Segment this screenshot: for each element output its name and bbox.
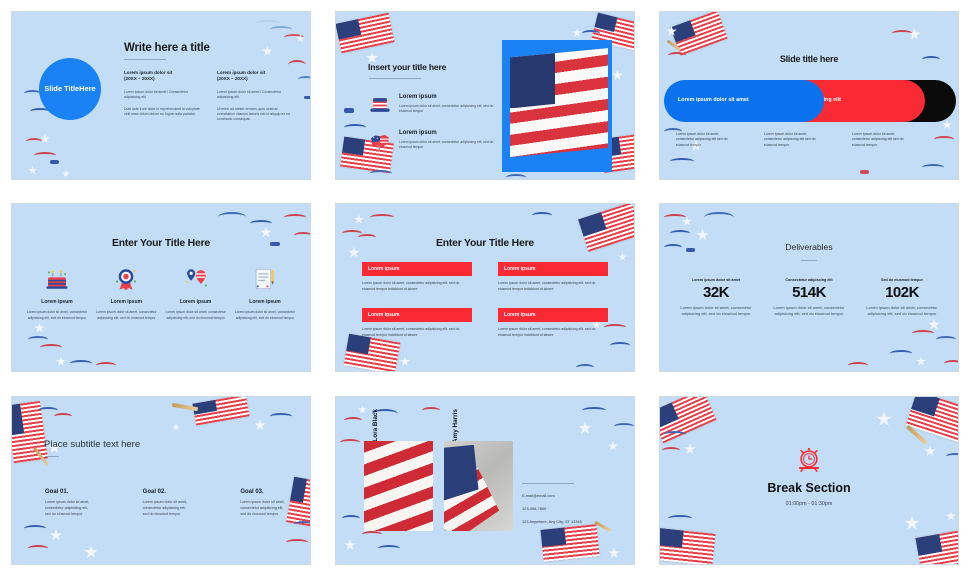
- feature-row-2: Lorem ipsum Lorem ipsum dolor sit amet, …: [369, 130, 497, 152]
- red-label-block-3[interactable]: Lorem ipsum Lorem ipsum dolor sit amet, …: [362, 308, 472, 338]
- contact-info: E-mail@email.com 123-456-7890 123 Anywhe…: [522, 493, 582, 532]
- goal-2: Goal 02. Lorem ipsum dolor sit amet, con…: [143, 489, 193, 517]
- red-label-block-4[interactable]: Lorem ipsum Lorem ipsum dolor sit amet, …: [498, 308, 608, 338]
- person-photo-2: [444, 441, 513, 531]
- break-heading: Break Section: [660, 481, 958, 495]
- stat-1: Lorem ipsum dolor sit amet 32K Lorem ips…: [672, 278, 760, 317]
- circle-label-line1: Slide Title: [44, 84, 79, 93]
- stat-label: Sed do eiusmod tempor: [858, 278, 946, 282]
- stat-para: Lorem ipsum dolor sit amet, consectetur …: [858, 305, 946, 317]
- red-label-grid: Lorem ipsum Lorem ipsum dolor sit amet, …: [362, 262, 608, 338]
- icon-item-para: Lorem ipsum dolor sit amet, consectetur …: [95, 310, 157, 321]
- column-heading-line1: Lorem ipsum dolor sit: [124, 70, 172, 75]
- circle-label-line2: Here: [79, 84, 95, 93]
- cake-icon: [44, 266, 70, 292]
- pill-descriptions: Lorem ipsum dolor sit amet, consectetur …: [676, 132, 910, 148]
- feature-text-1: Lorem ipsum Lorem ipsum dolor sit amet, …: [399, 94, 497, 114]
- column-1: Lorem ipsum dolor sit (20XX – 20XX) Lore…: [124, 70, 203, 122]
- red-label: Lorem ipsum: [362, 308, 472, 322]
- stat-3: Sed do eiusmod tempor 102K Lorem ipsum d…: [858, 278, 946, 317]
- icon-item-2[interactable]: Lorem ipsum Lorem ipsum dolor sit amet, …: [95, 266, 157, 321]
- slide-cell-1: Slide Title Here Write here a title Lore…: [0, 0, 322, 191]
- pill-bar-1-label: Lorem ipsum dolor sit amet: [678, 97, 749, 105]
- stat-label: Consectetur adipiscing elit: [765, 278, 853, 282]
- goal-title: Goal 01.: [45, 489, 95, 495]
- notebook-pencil-icon: [252, 266, 278, 292]
- slide-heading: Enter Your Title Here: [336, 238, 634, 249]
- icon-item-para: Lorem ipsum dolor sit amet, consectetur …: [165, 310, 227, 321]
- red-label: Lorem ipsum: [362, 262, 472, 276]
- red-label-block-1[interactable]: Lorem ipsum Lorem ipsum dolor sit amet, …: [362, 262, 472, 292]
- feature-title: Lorem ipsum: [399, 130, 497, 136]
- slide-title-circle[interactable]: Slide Title Here: [39, 58, 101, 120]
- slide-cell-8: Lora Black Amy Harris E-mail@email.com 1…: [324, 385, 646, 576]
- red-label: Lorem ipsum: [498, 308, 608, 322]
- red-label-para: Lorem ipsum dolor sit amet, consectetur …: [498, 327, 608, 338]
- stat-para: Lorem ipsum dolor sit amet, consectetur …: [672, 305, 760, 317]
- red-label-block-2[interactable]: Lorem ipsum Lorem ipsum dolor sit amet, …: [498, 262, 608, 292]
- slide-cell-6: Deliverables Lorem ipsum dolor sit amet …: [648, 193, 970, 384]
- slide-heading: Insert your title here: [368, 62, 446, 72]
- uncle-sam-hat-icon: [369, 94, 391, 116]
- contact-address: 123 Anywhere, Any City, ST 12345: [522, 519, 582, 524]
- alarm-clock-icon: [795, 445, 823, 473]
- map-pin-balloon-icon: [183, 266, 209, 292]
- confetti-background: [12, 397, 310, 564]
- icon-item-4[interactable]: Lorem ipsum Lorem ipsum dolor sit amet, …: [234, 266, 296, 321]
- feature-title: Lorem ipsum: [399, 94, 497, 100]
- column-heading-line2: (20XX – 20XX): [217, 76, 248, 81]
- break-time: 01:00pm - 01:30pm: [660, 501, 958, 507]
- award-ribbon-icon: [113, 266, 139, 292]
- slide-deck-grid: Slide Title Here Write here a title Lore…: [0, 0, 970, 576]
- goal-3: Goal 03. Lorem ipsum dolor sit amet, con…: [240, 489, 290, 517]
- goal-1: Goal 01. Lorem ipsum dolor sit amet, con…: [45, 489, 95, 517]
- slide-8-team-contact[interactable]: Lora Black Amy Harris E-mail@email.com 1…: [335, 396, 635, 565]
- feature-row-1: Lorem ipsum Lorem ipsum dolor sit amet, …: [369, 94, 497, 116]
- slide-heading: Place subtitle text here: [44, 439, 140, 450]
- pill-para-2: Lorem ipsum dolor sit amet, consectetur …: [764, 132, 822, 148]
- slide-cell-9: Break Section 01:00pm - 01:30pm: [648, 385, 970, 576]
- stat-value: 102K: [858, 284, 946, 301]
- slide-cell-4: Enter Your Title Here: [0, 193, 322, 384]
- slide-cell-2: Insert your title here Lorem ipsum: [324, 0, 646, 191]
- red-label: Lorem ipsum: [498, 262, 608, 276]
- usa-map-icon: [369, 130, 391, 152]
- heading-divider: [124, 59, 166, 60]
- heading-divider: [801, 260, 817, 261]
- heading-divider: [369, 78, 421, 79]
- slide-2-two-feature[interactable]: Insert your title here Lorem ipsum: [335, 11, 635, 180]
- icon-item-para: Lorem ipsum dolor sit amet, consectetur …: [234, 310, 296, 321]
- stat-value: 32K: [672, 284, 760, 301]
- slide-cell-5: Enter Your Title Here Lorem ipsum Lorem …: [324, 193, 646, 384]
- slide-4-four-icons[interactable]: Enter Your Title Here: [11, 203, 311, 372]
- person-photo-1: [364, 441, 433, 531]
- column-heading-line2: (20XX – 20XX): [124, 76, 155, 81]
- slide-1-title[interactable]: Slide Title Here Write here a title Lore…: [11, 11, 311, 180]
- icon-item-list: Lorem ipsum Lorem ipsum dolor sit amet, …: [26, 266, 296, 321]
- slide-heading: Enter Your Title Here: [12, 238, 310, 249]
- slide-9-break-section[interactable]: Break Section 01:00pm - 01:30pm: [659, 396, 959, 565]
- slide-heading: Slide title here: [660, 54, 958, 64]
- slide-5-red-labels[interactable]: Enter Your Title Here Lorem ipsum Lorem …: [335, 203, 635, 372]
- feature-text-2: Lorem ipsum Lorem ipsum dolor sit amet, …: [399, 130, 497, 150]
- column-list: Lorem ipsum dolor sit (20XX – 20XX) Lore…: [124, 70, 296, 122]
- column-para-1: Lorem ipsum dolor sit amet./ Consectetur…: [217, 90, 296, 100]
- icon-item-title: Lorem ipsum: [165, 299, 227, 305]
- column-para-1: Lorem ipsum dolor sit amet./ Consectetur…: [124, 90, 203, 100]
- stat-2: Consectetur adipiscing elit 514K Lorem i…: [765, 278, 853, 317]
- column-heading: Lorem ipsum dolor sit (20XX – 20XX): [217, 70, 296, 83]
- icon-item-1[interactable]: Lorem ipsum Lorem ipsum dolor sit amet, …: [26, 266, 88, 321]
- pill-bar-1[interactable]: Lorem ipsum dolor sit amet: [664, 80, 824, 122]
- goal-title: Goal 02.: [143, 489, 193, 495]
- red-label-para: Lorem ipsum dolor sit amet, consectetur …: [362, 327, 472, 338]
- waving-flag-photo: [502, 40, 612, 172]
- column-heading-line1: Lorem ipsum dolor sit: [217, 70, 265, 75]
- icon-item-title: Lorem ipsum: [95, 299, 157, 305]
- icon-item-3[interactable]: Lorem ipsum Lorem ipsum dolor sit amet, …: [165, 266, 227, 321]
- slide-heading: Write here a title: [124, 42, 210, 54]
- column-2: Lorem ipsum dolor sit (20XX – 20XX) Lore…: [217, 70, 296, 122]
- person-name-2: Amy Harris: [452, 409, 459, 443]
- slide-6-deliverables[interactable]: Deliverables Lorem ipsum dolor sit amet …: [659, 203, 959, 372]
- goal-list: Goal 01. Lorem ipsum dolor sit amet, con…: [45, 489, 290, 517]
- feature-para: Lorem ipsum dolor sit amet, consectetur …: [399, 140, 497, 150]
- red-label-para: Lorem ipsum dolor sit amet, consectetur …: [498, 281, 608, 292]
- slide-cell-3: Slide title here Sed do eiusmod tempor C…: [648, 0, 970, 191]
- icon-item-title: Lorem ipsum: [234, 299, 296, 305]
- goal-title: Goal 03.: [240, 489, 290, 495]
- contact-divider: [522, 483, 574, 484]
- slide-7-goals[interactable]: Place subtitle text here Goal 01. Lorem …: [11, 396, 311, 565]
- red-label-para: Lorem ipsum dolor sit amet, consectetur …: [362, 281, 472, 292]
- pill-para-3: Lorem ipsum dolor sit amet, consectetur …: [852, 132, 910, 148]
- goal-para: Lorem ipsum dolor sit amet, consectetur …: [240, 500, 290, 517]
- person-name-1: Lora Black: [372, 409, 379, 442]
- slide-heading: Deliverables: [660, 242, 958, 252]
- contact-email[interactable]: E-mail@email.com: [522, 493, 582, 498]
- stat-para: Lorem ipsum dolor sit amet, consectetur …: [765, 305, 853, 317]
- icon-item-para: Lorem ipsum dolor sit amet, consectetur …: [26, 310, 88, 321]
- slide-cell-7: Place subtitle text here Goal 01. Lorem …: [0, 385, 322, 576]
- icon-item-title: Lorem ipsum: [26, 299, 88, 305]
- goal-para: Lorem ipsum dolor sit amet, consectetur …: [45, 500, 95, 517]
- stat-label: Lorem ipsum dolor sit amet: [672, 278, 760, 282]
- column-para-2: Duis aute irure dolor in reprehenderit i…: [124, 107, 203, 117]
- heading-divider: [45, 456, 59, 457]
- contact-phone[interactable]: 123-456-7890: [522, 506, 582, 511]
- pill-bar-group: Sed do eiusmod tempor Consectetur adipis…: [664, 80, 954, 122]
- column-heading: Lorem ipsum dolor sit (20XX – 20XX): [124, 70, 203, 83]
- stat-value: 514K: [765, 284, 853, 301]
- slide-3-pill-bars[interactable]: Slide title here Sed do eiusmod tempor C…: [659, 11, 959, 180]
- column-para-2: Ut enim ad minim veniam, quis nostrud ex…: [217, 107, 296, 122]
- goal-para: Lorem ipsum dolor sit amet, consectetur …: [143, 500, 193, 517]
- pill-para-1: Lorem ipsum dolor sit amet, consectetur …: [676, 132, 734, 148]
- stat-list: Lorem ipsum dolor sit amet 32K Lorem ips…: [672, 278, 946, 317]
- feature-para: Lorem ipsum dolor sit amet, consectetur …: [399, 104, 497, 114]
